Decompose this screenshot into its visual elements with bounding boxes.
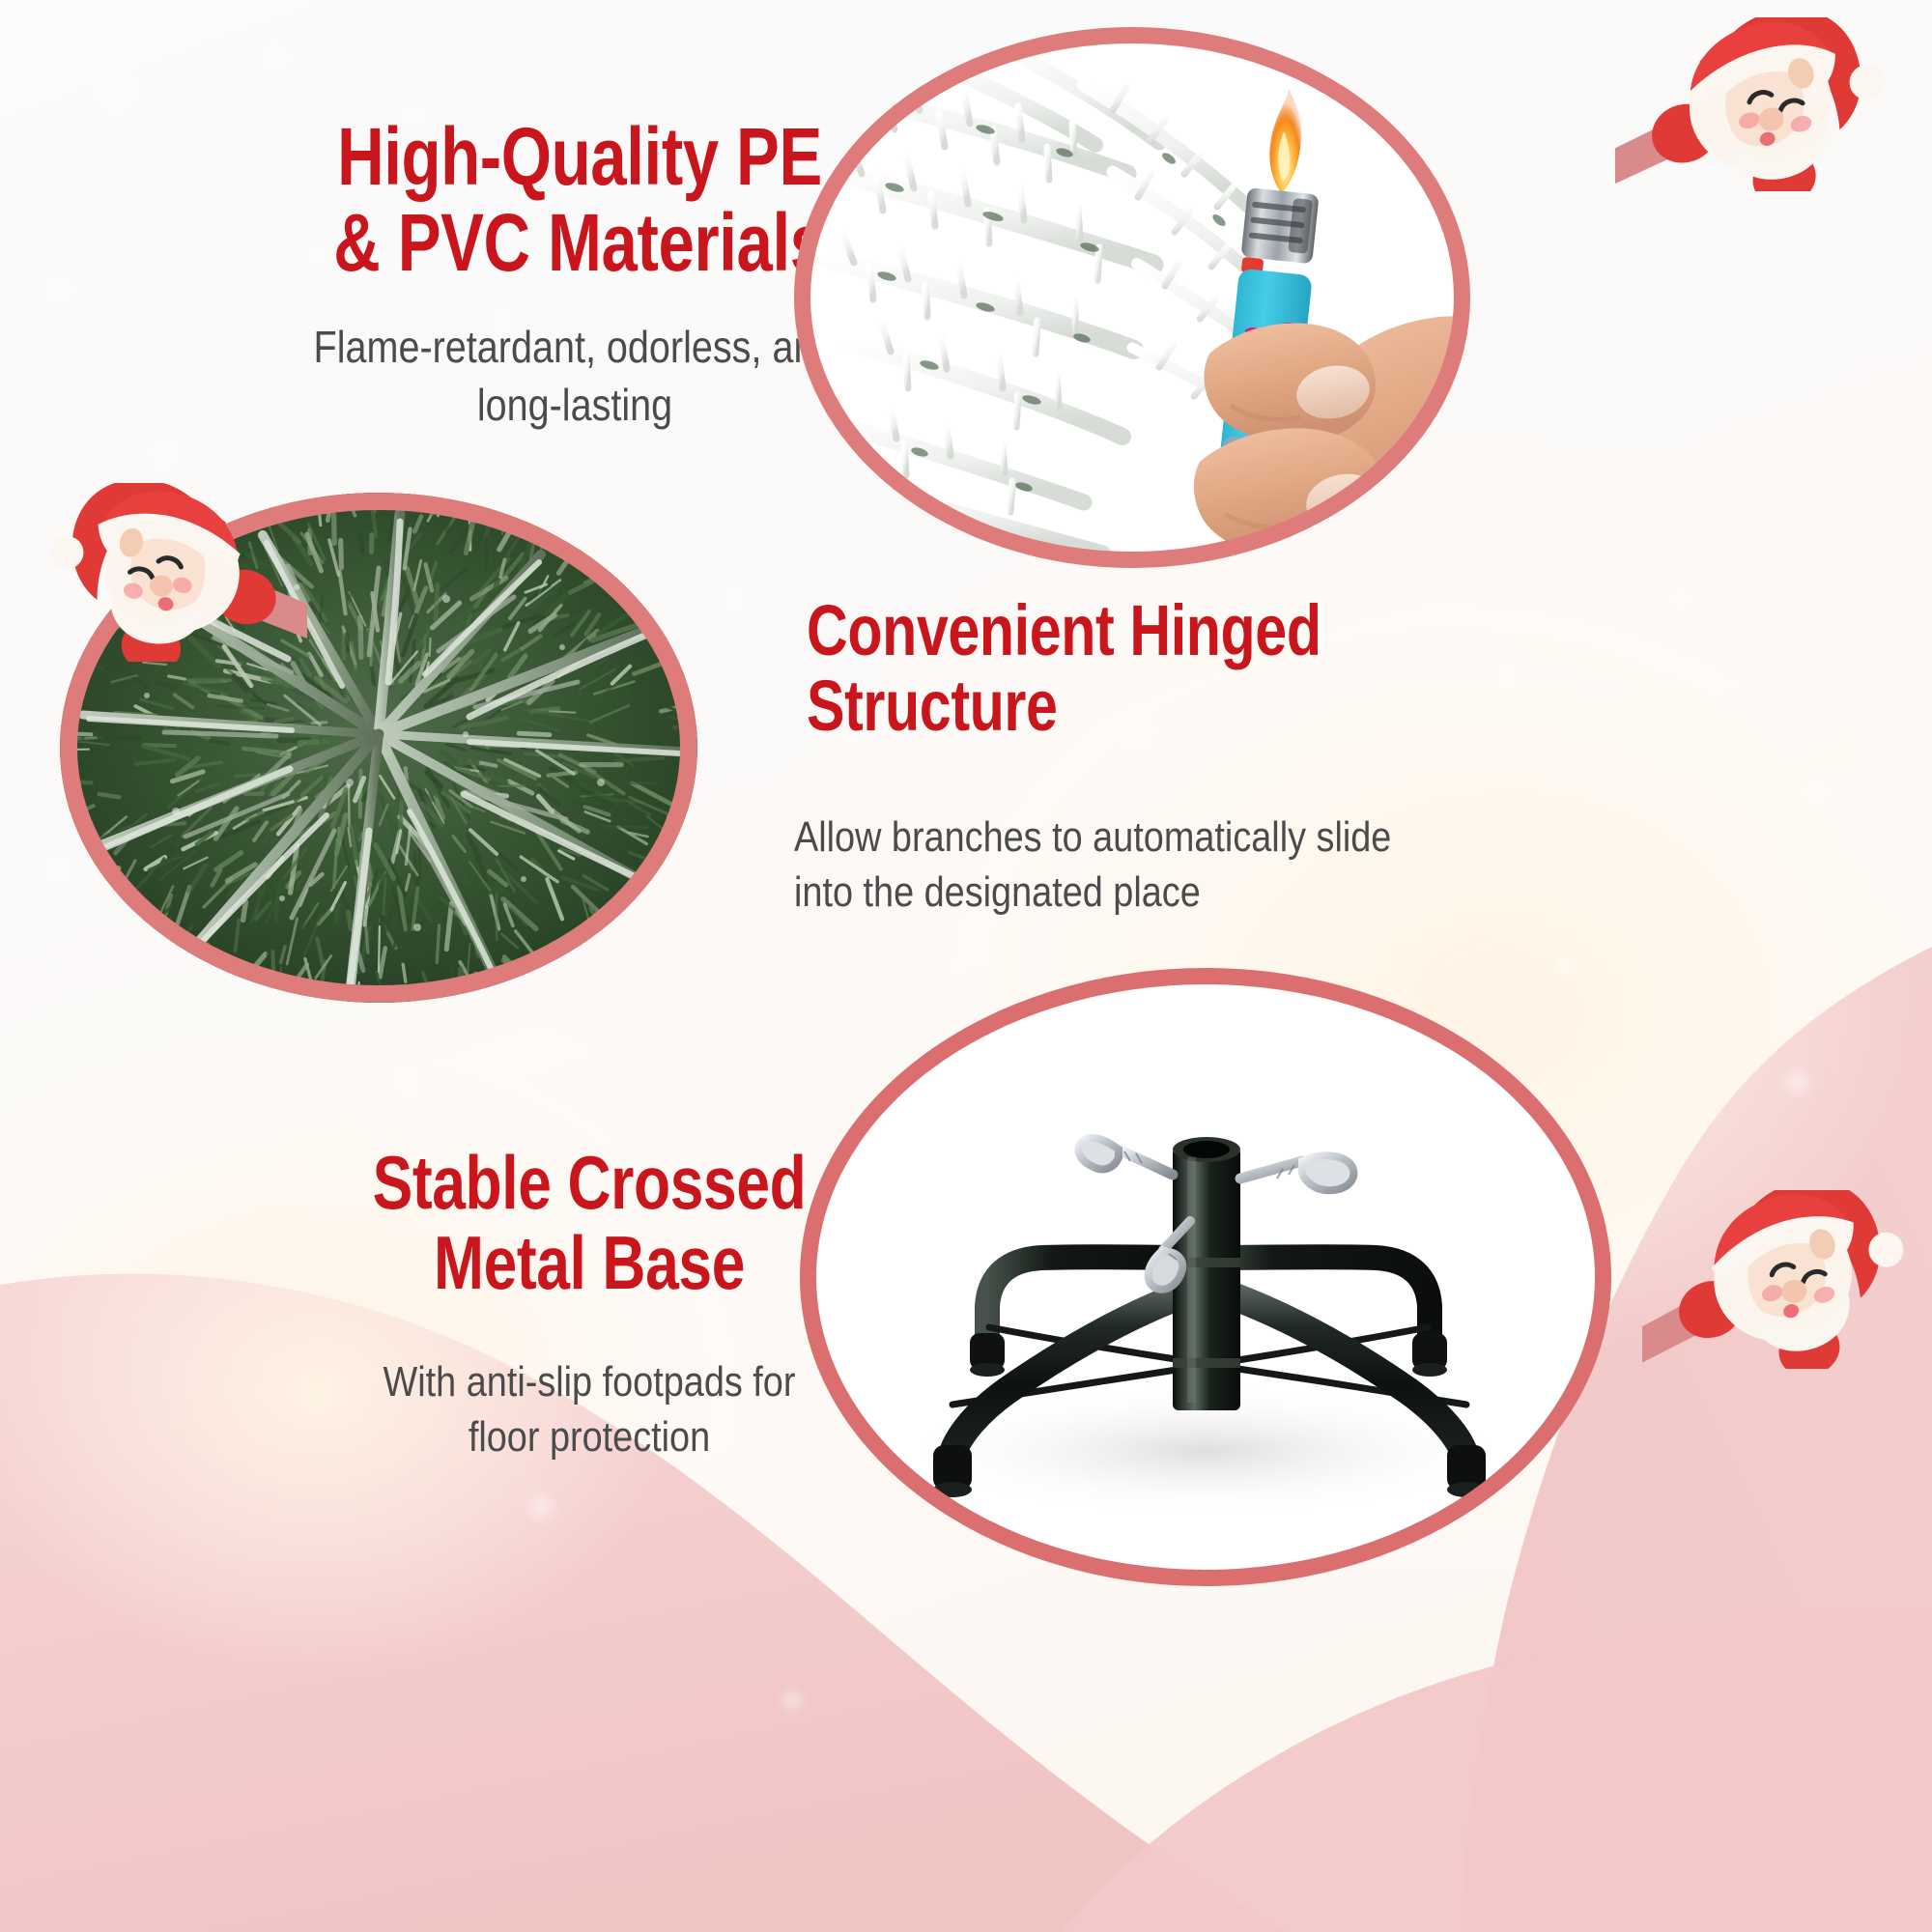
photo-hinged-branches-image (60, 493, 697, 1003)
feature-headline-hinged-structure: Convenient Hinged Structure (807, 593, 1448, 745)
snowy-branch-lighter-illustration (794, 27, 1470, 568)
photo-flame-test-image (794, 27, 1470, 568)
green-flocked-branches-illustration (60, 493, 697, 1003)
crossed-metal-stand-illustration (800, 968, 1611, 1586)
infographic-canvas: High-Quality PE & PVC Materials Flame-re… (0, 0, 1932, 1932)
photo-oval-metal-base[interactable] (800, 968, 1611, 1586)
photo-oval-flame-test[interactable] (794, 27, 1470, 568)
hand-holding-lighter (1194, 316, 1470, 568)
photo-metal-base-image (800, 968, 1611, 1586)
feature-subtext-hinged-structure: Allow branches to automatically slide in… (794, 810, 1525, 920)
feature-headline-metal-base: Stable Crossed Metal Base (311, 1143, 867, 1302)
photo-oval-hinged-branches[interactable] (60, 493, 697, 1003)
